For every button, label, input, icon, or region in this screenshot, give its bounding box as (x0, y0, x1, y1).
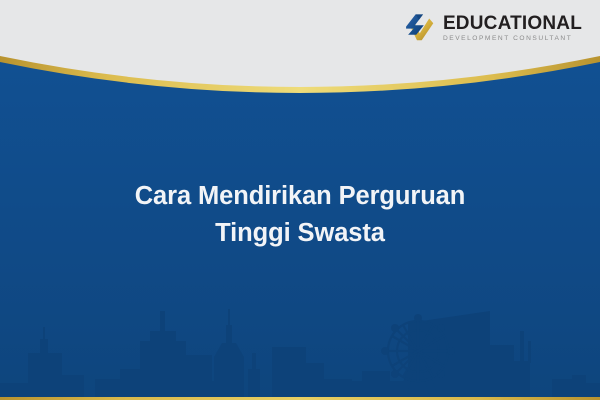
logo-wordmark: EDUCATIONAL DEVELOPMENT CONSULTANT (443, 14, 582, 43)
logo-title: EDUCATIONAL (443, 14, 582, 33)
logo-mark-icon (402, 11, 436, 45)
slide-title-line-1: Cara Mendirikan Perguruan (40, 178, 560, 215)
slide-canvas: EDUCATIONAL DEVELOPMENT CONSULTANT Cara … (0, 0, 600, 400)
slide-title: Cara Mendirikan Perguruan Tinggi Swasta (0, 178, 600, 252)
slide-title-line-2: Tinggi Swasta (40, 215, 560, 252)
logo-subtitle: DEVELOPMENT CONSULTANT (443, 36, 572, 43)
brand-logo: EDUCATIONAL DEVELOPMENT CONSULTANT (402, 11, 582, 45)
